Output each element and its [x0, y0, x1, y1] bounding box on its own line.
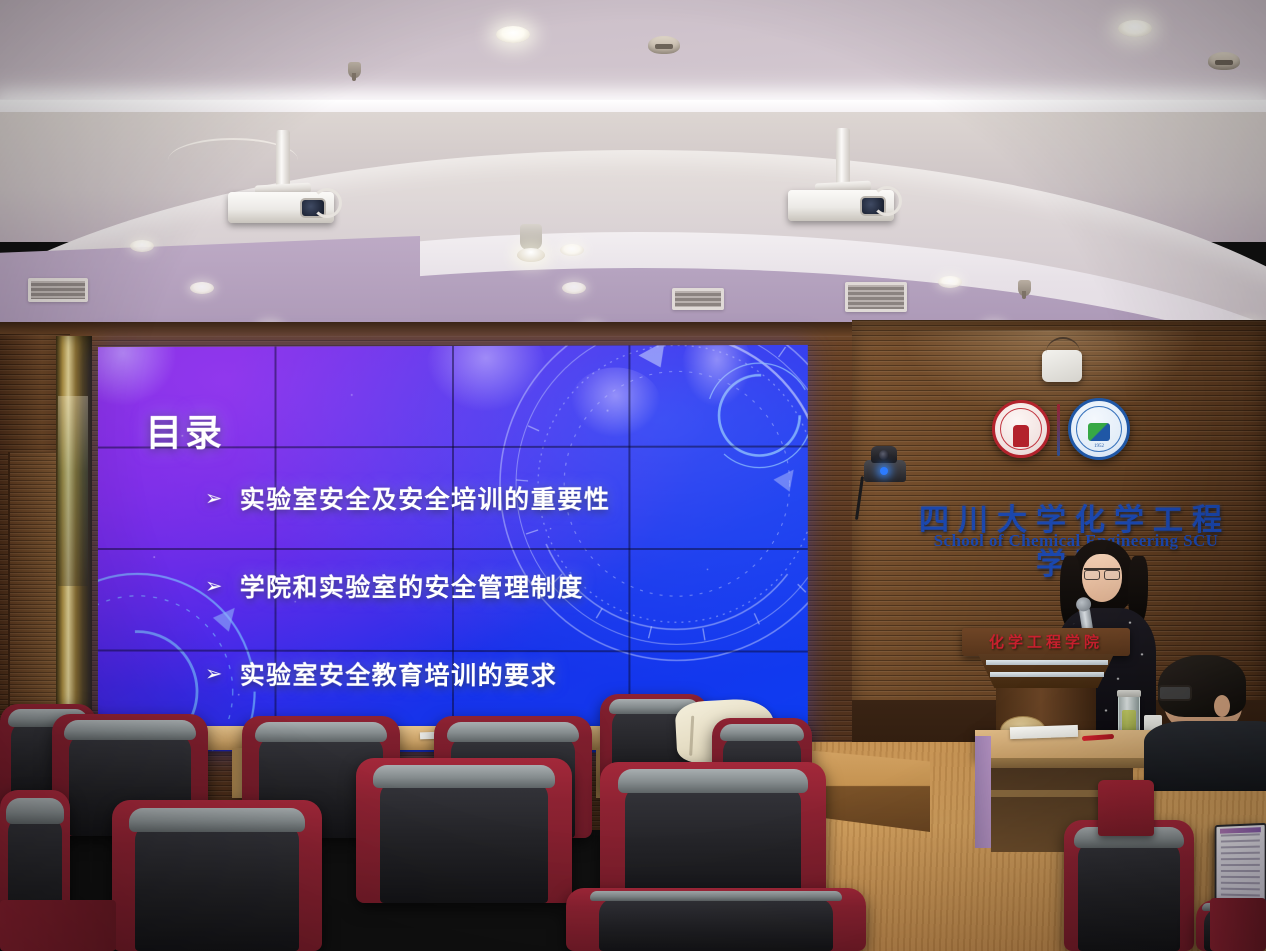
seat-headrest: [720, 724, 804, 742]
ceiling-downlight: [560, 244, 584, 256]
tea-jar-lid: [1117, 690, 1141, 697]
pendant-light: [520, 224, 542, 250]
school-of-chemical-engineering-emblem: 1952: [1068, 398, 1130, 460]
ceiling-downlight: [496, 26, 530, 43]
bullet-arrow-icon: ➢: [205, 663, 224, 684]
emblem-year: 1896: [995, 441, 1047, 446]
attendee-ear: [1214, 695, 1230, 717]
seated-attendee: [1150, 655, 1266, 775]
attendee-torso: [1144, 721, 1266, 791]
left-wall-panel: [8, 452, 56, 742]
slide-bullet-text: 学院和实验室的安全管理制度: [240, 568, 584, 604]
emblem-divider: [1057, 404, 1060, 456]
emblem-year: 1952: [1071, 444, 1127, 449]
wall-mounted-speaker: [1042, 350, 1082, 382]
seat-headrest: [6, 798, 65, 824]
bullet-arrow-icon: ➢: [205, 488, 224, 509]
ceiling-downlight: [1118, 20, 1152, 37]
emblem-mark: [1088, 423, 1110, 441]
seat-side-panel: [1210, 898, 1266, 951]
ceiling-upper: [0, 0, 1266, 108]
slide-bullet-text: 实验室安全教育培训的要求: [240, 656, 557, 693]
camera-status-led: [880, 467, 888, 475]
auditorium-seat[interactable]: [112, 800, 322, 951]
bullet-arrow-icon: ➢: [205, 575, 224, 596]
attendee-glasses: [1158, 685, 1192, 701]
seat-armrest: [1098, 780, 1154, 836]
ceiling-downlight: [938, 276, 962, 288]
seat-side-panel: [0, 900, 116, 951]
fire-sprinkler-icon: [1018, 280, 1031, 296]
seat-headrest: [129, 808, 305, 832]
projector-mount-pole: [276, 130, 290, 188]
seat-headrest: [618, 769, 808, 793]
smoke-detector-icon: [648, 36, 680, 54]
slide-bullet-item: ➢ 实验室安全教育培训的要求: [205, 656, 765, 693]
hvac-vent: [845, 282, 907, 312]
seat-cushion: [599, 898, 833, 951]
podium-label: 化学工程学院: [962, 631, 1130, 652]
led-video-wall[interactable]: 目录 ➢ 实验室安全及安全培训的重要性 ➢ 学院和实验室的安全管理制度 ➢ 实验…: [98, 345, 808, 753]
seat-headrest: [373, 765, 554, 788]
projector-cable-coil: [312, 188, 342, 218]
seat-headrest: [590, 891, 842, 901]
slide-title: 目录: [145, 402, 224, 456]
brass-column-trim: [56, 336, 92, 746]
hvac-vent: [672, 288, 724, 310]
desk-side-panel: [975, 736, 991, 848]
podium-stripe: [990, 672, 1104, 677]
desk-papers: [1010, 725, 1078, 739]
seat-cushion: [1078, 841, 1179, 951]
brass-column-glint: [58, 396, 88, 586]
camera-head: [871, 446, 897, 463]
ceiling-downlight: [190, 282, 214, 294]
auditorium-seat[interactable]: [1064, 820, 1194, 951]
auditorium-seat[interactable]: [566, 888, 866, 951]
podium-stripe: [986, 660, 1108, 665]
auditorium-seat[interactable]: [356, 758, 572, 903]
smoke-detector-icon: [1208, 52, 1240, 70]
ceiling-downlight: [562, 282, 586, 294]
seat-headrest: [255, 722, 388, 742]
projector-mount-pole: [836, 128, 850, 186]
slide-bullet-item: ➢ 学院和实验室的安全管理制度: [205, 568, 765, 604]
ptz-camera: [864, 460, 906, 482]
hvac-vent: [28, 278, 88, 302]
sichuan-university-emblem: 1896: [992, 400, 1050, 458]
seat-cushion: [380, 781, 548, 903]
slide-bullet-text: 实验室安全及安全培训的重要性: [240, 480, 611, 516]
seat-headrest: [447, 722, 580, 742]
slide-bullet-item: ➢ 实验室安全及安全培训的重要性: [205, 480, 765, 516]
fire-sprinkler-icon: [348, 62, 361, 78]
presenter-glasses: [1084, 568, 1120, 577]
ceiling-downlight: [130, 240, 154, 252]
lecture-hall-photo: 目录 ➢ 实验室安全及安全培训的重要性 ➢ 学院和实验室的安全管理制度 ➢ 实验…: [0, 0, 1266, 951]
projector-cable-coil: [872, 186, 902, 216]
desk-edge: [975, 758, 1151, 768]
seat-headrest: [64, 720, 195, 740]
laptop-screen-content: [1221, 833, 1260, 906]
seat-cushion: [135, 824, 299, 951]
